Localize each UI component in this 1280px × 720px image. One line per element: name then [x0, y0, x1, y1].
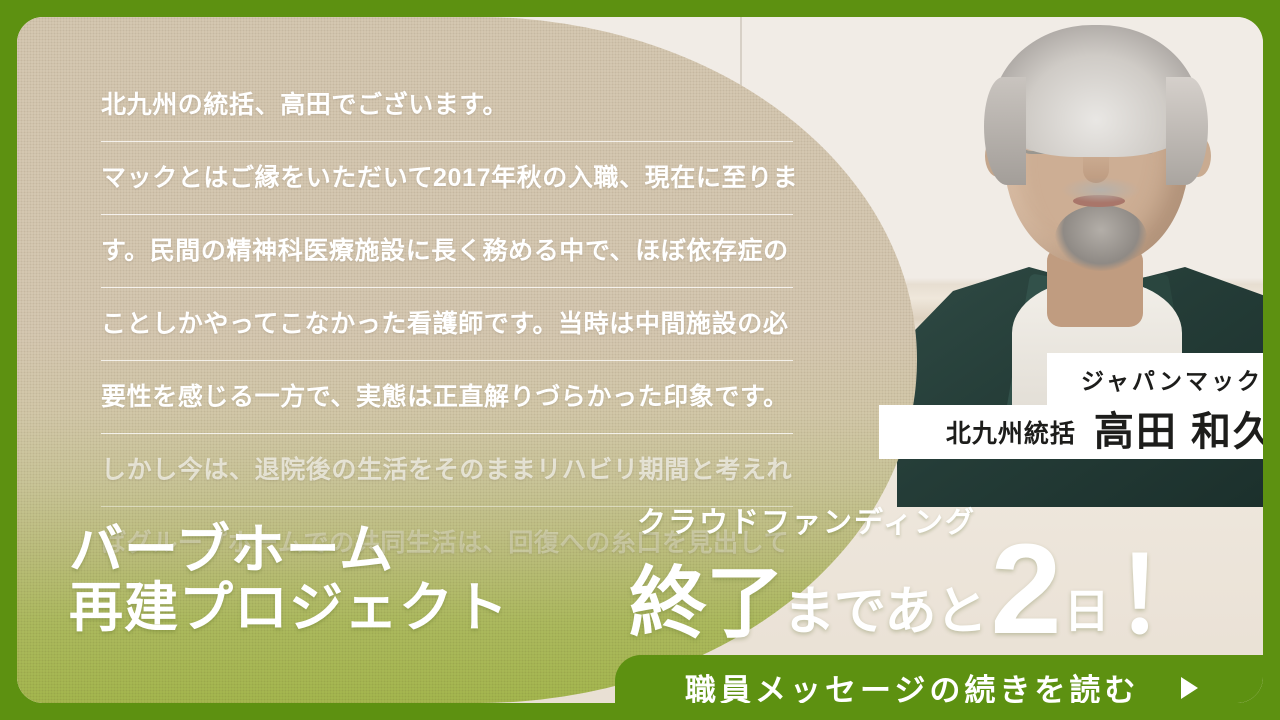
countdown-until: まであと: [783, 586, 986, 640]
play-triangle-right-icon: [1181, 677, 1198, 699]
read-more-button[interactable]: 職員メッセージの続きを読む: [615, 655, 1263, 703]
project-title: バーブホーム 再建プロジェクト: [69, 522, 629, 638]
countdown-days-unit: 日: [1058, 588, 1112, 640]
speaker-role: 北九州統括: [946, 414, 1076, 450]
countdown-block: クラウドファンディング 終了 まであと 2 日 ！: [629, 509, 1263, 640]
read-more-label: 職員メッセージの続きを読む: [685, 665, 1181, 703]
message-line: 北九州の統括、高田でございます。: [101, 69, 793, 142]
project-title-line-1: バーブホーム: [69, 522, 629, 580]
message-line-faded: しかし今は、退院後の生活をそのままリハビリ期間と考えれ: [101, 434, 793, 507]
message-line: す。民間の精神科医療施設に長く務める中で、ほぼ依存症の: [101, 215, 793, 288]
crowdfunding-label: クラウドファンディング: [637, 509, 1263, 538]
photo-hair: [992, 25, 1200, 157]
speaker-name-plate: 北九州統括 高田 和久: [879, 405, 1263, 459]
message-line-text: マックとはご縁をいただいて2017年秋の入職、現在に至りま: [101, 163, 798, 193]
countdown-line: 終了 まであと 2 日 ！: [629, 540, 1263, 640]
speaker-name: 高田 和久: [1094, 412, 1263, 452]
project-title-line-2: 再建プロジェクト: [69, 580, 629, 638]
message-line-text: す。民間の精神科医療施設に長く務める中で、ほぼ依存症の: [101, 236, 789, 266]
staff-message: 北九州の統括、高田でございます。 マックとはご縁をいただいて2017年秋の入職、…: [101, 69, 793, 580]
countdown-end-word: 終了: [629, 566, 783, 640]
photo-goatee: [1055, 205, 1147, 271]
message-line-text: 北九州の統括、高田でございます。: [101, 90, 508, 120]
speaker-organization: ジャパンマック: [1081, 362, 1263, 396]
countdown-exclamation: ！: [1112, 555, 1218, 640]
message-line: 要性を感じる一方で、実態は正直解りづらかった印象です。: [101, 361, 793, 434]
promo-banner: 北九州の統括、高田でございます。 マックとはご縁をいただいて2017年秋の入職、…: [0, 0, 1280, 720]
message-line: ことしかやってこなかった看護師です。当時は中間施設の必: [101, 288, 793, 361]
banner-stage: 北九州の統括、高田でございます。 マックとはご縁をいただいて2017年秋の入職、…: [17, 17, 1263, 703]
countdown-days-number: 2: [987, 540, 1058, 640]
speaker-organization-plate: ジャパンマック: [1047, 353, 1263, 405]
message-line-text: しかし今は、退院後の生活をそのままリハビリ期間と考えれ: [101, 455, 792, 485]
message-line-text: ことしかやってこなかった看護師です。当時は中間施設の必: [101, 309, 788, 339]
message-line-text: 要性を感じる一方で、実態は正直解りづらかった印象です。: [101, 382, 789, 412]
message-line: マックとはご縁をいただいて2017年秋の入職、現在に至りま: [101, 142, 793, 215]
